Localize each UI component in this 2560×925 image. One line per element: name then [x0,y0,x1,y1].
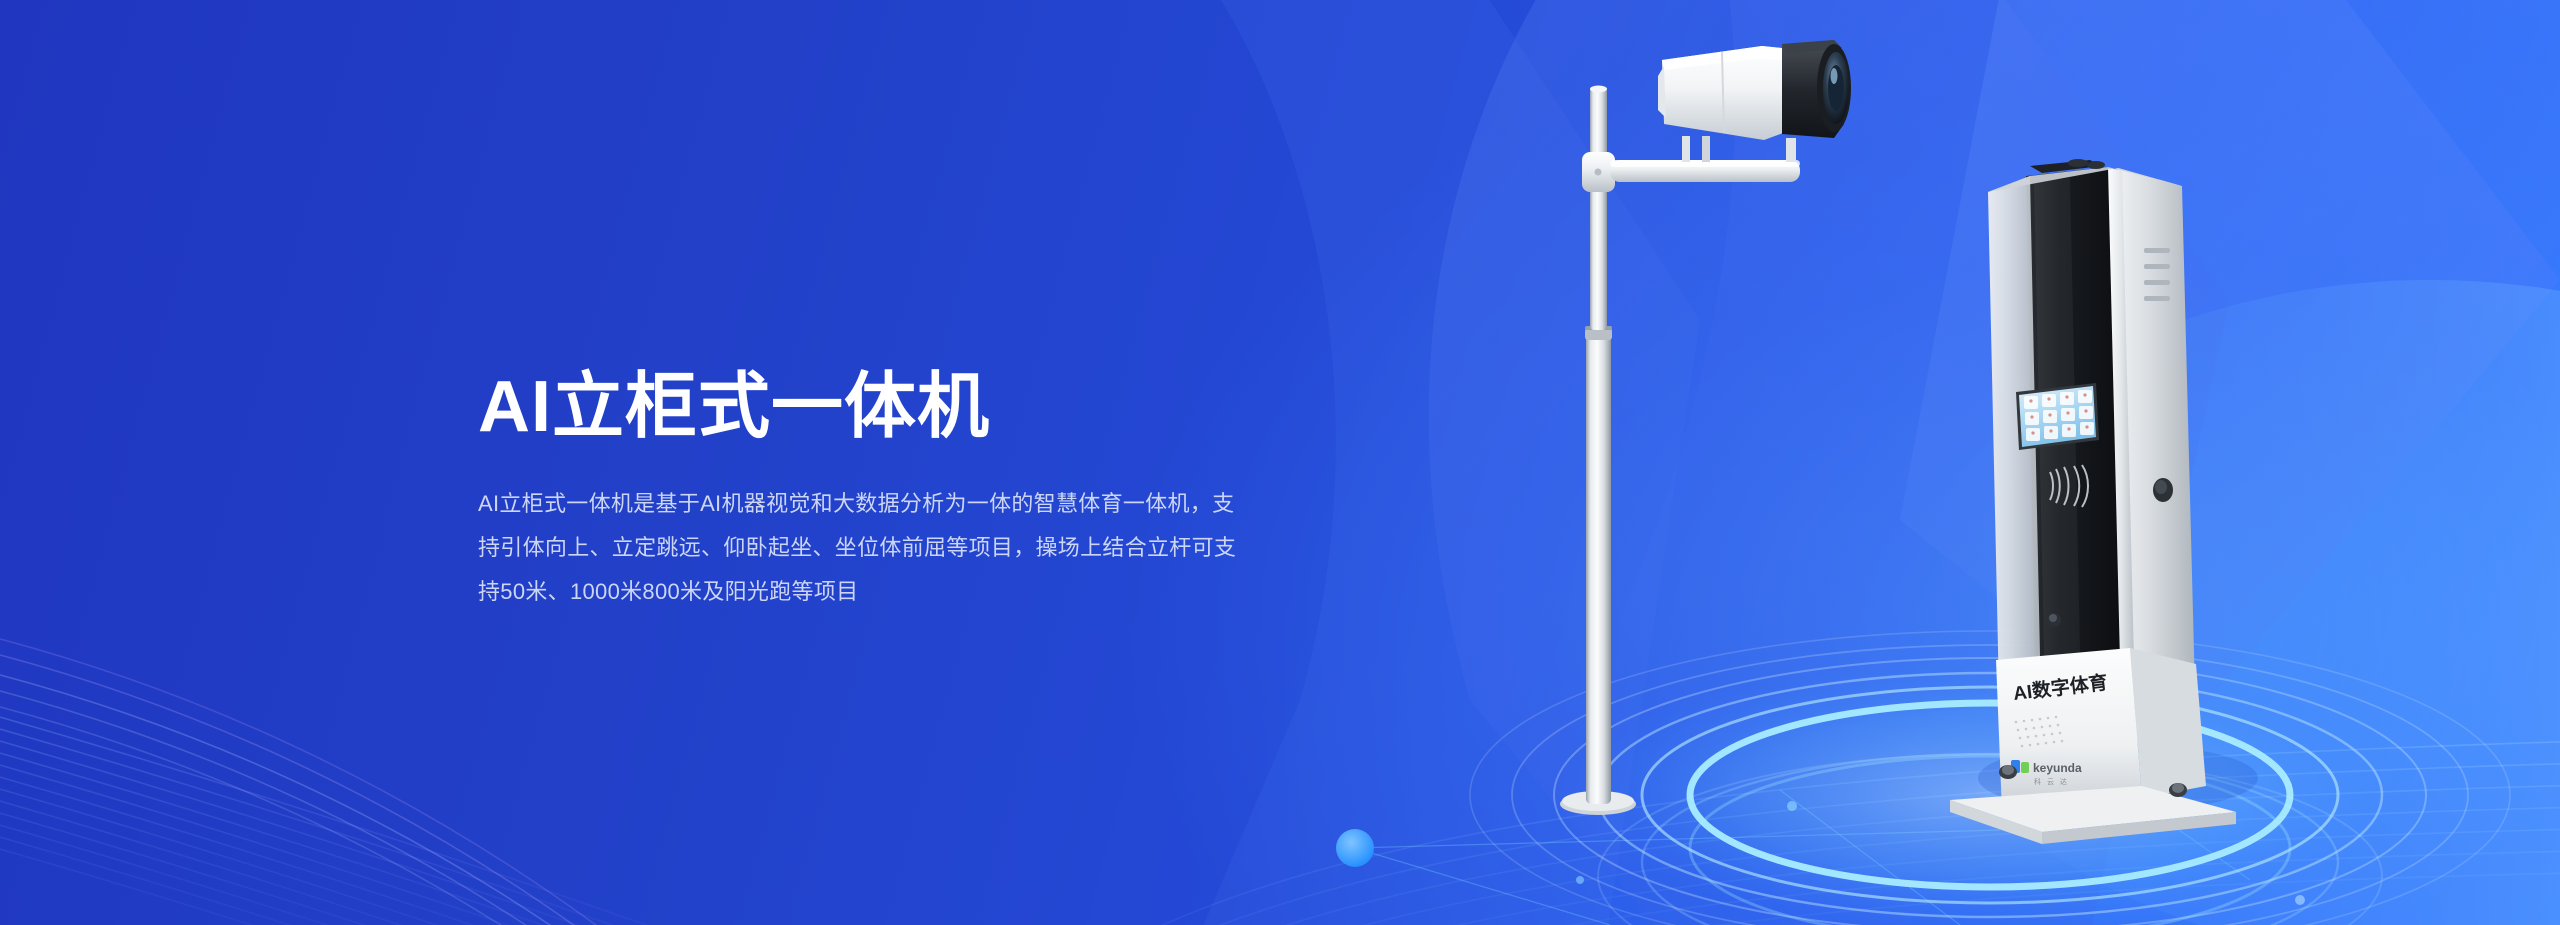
ai-kiosk: AI数字体育 keyunda 科 云 [1950,159,2258,844]
kiosk-side-panel [2118,168,2196,742]
kiosk-front-panel [2026,167,2122,752]
vendor-logo-icon [2011,760,2029,773]
page-title: AI立柜式一体机 [478,370,1298,446]
vendor-logo-subtext: 科 云 达 [2034,777,2069,786]
product-image: AI数字体育 keyunda 科 云 [1430,0,2560,925]
camera-pole [1560,86,1800,816]
kiosk-left-column [1988,176,2042,752]
kiosk-speaker-grille [2015,716,2064,748]
hero-banner: AI立柜式一体机 AI立柜式一体机是基于AI机器视觉和大数据分析为一体的智慧体育… [0,0,2560,925]
hero-copy: AI立柜式一体机 AI立柜式一体机是基于AI机器视觉和大数据分析为一体的智慧体育… [478,370,1298,614]
bg-shape-group-angular [1180,0,2560,925]
bg-wave-lines-left [0,624,760,925]
kiosk-lower-cabinet [1996,648,2142,812]
kiosk-casters [1999,765,2187,797]
kiosk-edge-strip [2106,168,2136,744]
bg-right-glow [1910,280,2560,925]
kiosk-brand-text: AI数字体育 [2012,671,2109,705]
kiosk-lock[interactable] [2153,478,2173,502]
kiosk-touchscreen[interactable] [2016,383,2099,450]
kiosk-foot-base [1950,786,2236,832]
nfc-reader-icon[interactable] [2050,465,2088,507]
vendor-logo-text: keyunda [2033,761,2082,775]
screen-icon-grid [2024,390,2094,441]
kiosk-vent-slots [2144,248,2170,301]
kiosk-lower-side [2130,648,2206,798]
kiosk-top-module [2030,160,2102,173]
bg-dots [1336,736,2305,905]
bg-wave-lines-right [1040,740,2560,925]
product-illustration-svg: AI数字体育 keyunda 科 云 [1430,0,2560,925]
kiosk-sensor-lens [2047,613,2061,627]
cctv-camera [1658,40,1851,140]
floor-glow-rings [1470,631,2510,925]
bg-network-lines [1355,760,2250,925]
hero-description: AI立柜式一体机是基于AI机器视觉和大数据分析为一体的智慧体育一体机，支持引体向… [478,482,1238,614]
